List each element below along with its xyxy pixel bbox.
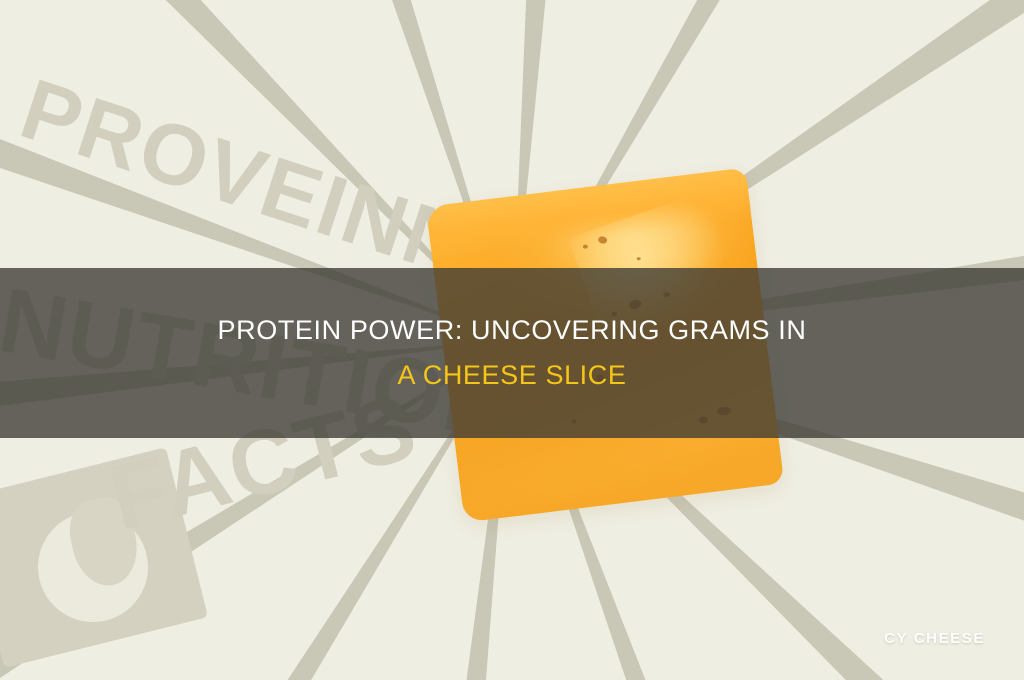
hero-image-canvas: PROVEINN NUTRITIONAL FACTS PROTEIN POWER… (0, 0, 1024, 680)
headline-secondary: A CHEESE SLICE (398, 360, 627, 391)
brand-wordmark: CY CHEESE (884, 630, 985, 647)
headline-primary: PROTEIN POWER: UNCOVERING GRAMS IN (218, 315, 807, 346)
headline-overlay-band: PROTEIN POWER: UNCOVERING GRAMS IN A CHE… (0, 268, 1024, 438)
